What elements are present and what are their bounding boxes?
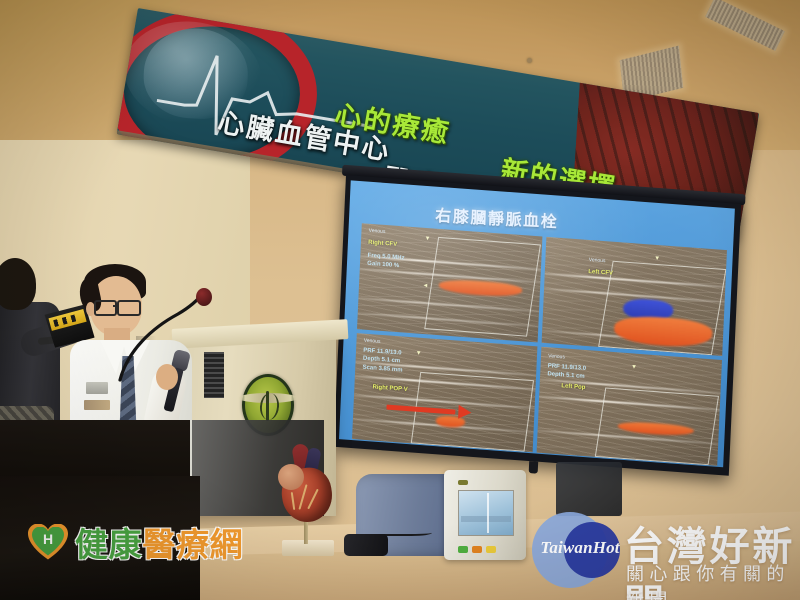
- slide-title: 右膝膕靜脈血栓: [435, 202, 559, 232]
- device-cable-run: [380, 528, 432, 536]
- anatomical-heart-model: [276, 448, 338, 560]
- device-status-led: [458, 480, 468, 485]
- heart-logo-icon: H: [28, 524, 68, 561]
- eyeglasses-left-lens-icon: [94, 300, 117, 316]
- heart-logo-glyph: H: [39, 531, 57, 548]
- watermark-left-text-orange: 醫療網: [142, 518, 243, 566]
- device-control-panel: [444, 470, 526, 560]
- device-display-screen: [458, 490, 514, 536]
- projection-screen: 右膝膕靜脈血栓 Venous Right CFV Freq 5.0 MHz Ga…: [334, 175, 741, 476]
- uniform-chest-logo: [84, 400, 110, 410]
- heart-model-base: [282, 540, 334, 556]
- screenshot-scene: 心的療癒 新的選擇 心臟血管中心 醫療新技術 右膝膕靜脈血栓 Venous: [0, 0, 800, 600]
- device-button-orange[interactable]: [472, 546, 482, 553]
- device-button-green[interactable]: [458, 546, 468, 553]
- watermark-taiwanhot: TaiwanHot 台灣好新聞 關心跟你有關的新聞: [516, 496, 800, 596]
- panel-header-tr: Venous: [589, 257, 606, 265]
- reporter-head: [0, 258, 36, 310]
- gooseneck-mic-capsule-icon: [196, 288, 212, 306]
- panel-header-bl: Venous: [364, 338, 381, 346]
- screen-pull-handle[interactable]: [529, 461, 539, 474]
- heart-atrium: [278, 464, 304, 490]
- ultrasound-panel-bottom-left: Venous PRF 11.9/13.0 Depth 5.1 cm Scan 3…: [352, 333, 537, 452]
- power-adapter-brick: [344, 534, 388, 556]
- panel-label-br: Left Pop: [561, 382, 585, 392]
- taiwanhot-badge-text: TaiwanHot: [536, 538, 624, 558]
- screen-surface: 右膝膕靜脈血栓 Venous Right CFV Freq 5.0 MHz Ga…: [339, 180, 735, 467]
- panel-header-br: Venous: [548, 354, 565, 362]
- gooseneck-microphone: [118, 290, 228, 382]
- taiwanhot-subline: 關心跟你有關的新聞: [626, 560, 800, 600]
- ultrasound-panel-top-right: Venous Left CFV ▼: [542, 237, 727, 356]
- device-button-yellow[interactable]: [486, 546, 496, 553]
- ceiling-sensor-icon: [527, 58, 532, 63]
- ultrasound-panel-grid: Venous Right CFV Freq 5.0 MHz Gain 100 %…: [352, 223, 727, 466]
- watermark-left-text-green: 健康: [75, 518, 142, 566]
- ultrasound-panel-top-left: Venous Right CFV Freq 5.0 MHz Gain 100 %…: [357, 223, 542, 342]
- watermark-health-media-network: H 健康 醫療網: [28, 520, 243, 564]
- uniform-name-badge: [86, 382, 108, 394]
- panel-header-tl: Venous: [369, 228, 386, 236]
- panel-label-tr: Left CFV: [588, 268, 613, 278]
- medical-device-unit: [356, 470, 526, 562]
- emblem-snake-icon: [259, 392, 281, 421]
- ultrasound-panel-bottom-right: Venous PRF 11.9/13.0 Depth 5.1 cm Left P…: [537, 347, 722, 466]
